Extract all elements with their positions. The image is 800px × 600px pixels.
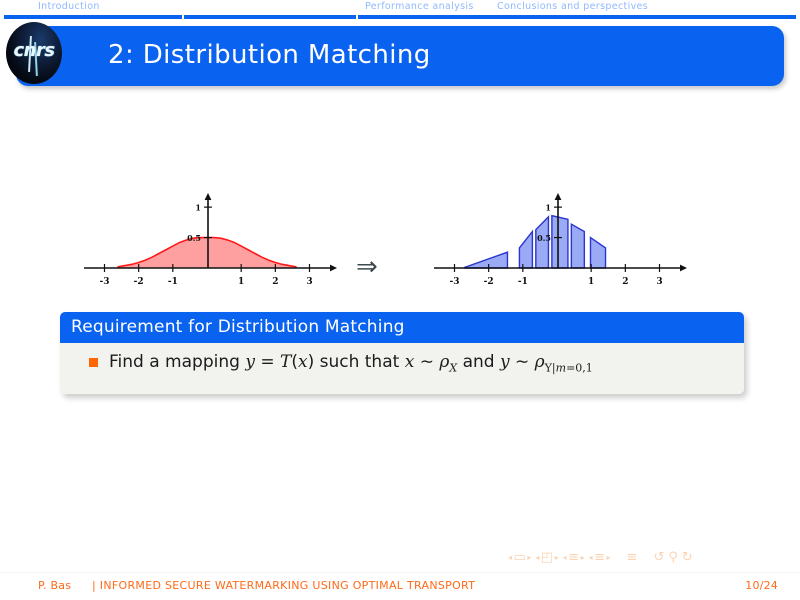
nav-back-icon[interactable]: ↺	[653, 550, 664, 565]
item-sub-Ybar: Y|	[545, 361, 556, 374]
y-tick-label: 1	[545, 203, 551, 213]
bar-segment	[571, 224, 584, 268]
item-sub-values: =0,1	[566, 361, 593, 374]
x-tick-label: 1	[588, 277, 594, 287]
item-rho-1: ρ	[439, 352, 449, 372]
footer-author: P. Bas	[38, 579, 71, 592]
nav-search-icon[interactable]: ⚲	[668, 550, 678, 565]
nav-prev-section-icon[interactable]: ◂	[589, 553, 593, 562]
bar-segment	[590, 238, 605, 268]
item-sub-m: m	[556, 361, 566, 374]
x-tick-label: 1	[238, 277, 244, 287]
nav-next-subsection-icon[interactable]: ▸	[581, 553, 585, 562]
item-sim-2: ∼	[510, 352, 535, 372]
bar-segment	[552, 216, 568, 268]
item-rho-2: ρ	[535, 352, 545, 372]
item-var-x2: x	[405, 352, 415, 372]
block-body: Find a mapping y = T(x) such that x ∼ ρX…	[60, 343, 744, 394]
nav-frame-group[interactable]: ◂ ◰ ▸	[535, 550, 558, 565]
x-tick-label: -1	[518, 277, 528, 287]
nav-forward-icon[interactable]: ↻	[682, 550, 693, 565]
nav-next-section-icon[interactable]: ▸	[607, 553, 611, 562]
nav-section-icon[interactable]: ≡	[594, 550, 605, 565]
block-title: Requirement for Distribution Matching	[60, 312, 744, 343]
item-var-x1: x	[298, 352, 308, 372]
nav-prev-slide-icon[interactable]: ◂	[508, 553, 512, 562]
implies-arrow-icon: ⇒	[356, 252, 378, 282]
y-tick-label: 1	[195, 203, 201, 213]
nav-section-group[interactable]: ◂ ≡ ▸	[589, 550, 611, 565]
item-func-T: T	[280, 352, 291, 372]
item-paren-open: (	[291, 352, 298, 372]
x-tick-label: -1	[168, 277, 178, 287]
footer-divider	[0, 572, 800, 573]
chart-right-quantized: -3-2-1123 0.51	[428, 190, 688, 290]
list-item: Find a mapping y = T(x) such that x ∼ ρX…	[70, 352, 734, 374]
page-title: 2: Distribution Matching	[108, 40, 431, 70]
bar-segment	[465, 252, 508, 268]
nav-subsection-icon[interactable]: ≡	[568, 550, 579, 565]
chart-right-svg: -3-2-1123 0.51	[428, 190, 688, 290]
cnrs-logo-text: cnrs	[11, 40, 57, 61]
bar-segment	[519, 231, 532, 268]
item-text-3: and	[457, 352, 500, 372]
y-axis-arrowhead	[555, 193, 562, 200]
frame-title-bar: 2: Distribution Matching	[16, 26, 784, 86]
y-axis-arrowhead	[205, 193, 212, 200]
footer: P. Bas | INFORMED SECURE WATERMARKING US…	[0, 576, 800, 600]
beamer-navigation-symbols: ◂ ▭ ▸ ◂ ◰ ▸ ◂ ≡ ▸ ◂ ≡ ▸ ≡ ↺ ⚲ ↻	[508, 548, 784, 566]
x-tick-label: -3	[100, 277, 110, 287]
quantized-segments	[465, 216, 606, 268]
nav-section-introduction[interactable]: Introduction	[38, 1, 100, 12]
item-equals: =	[255, 352, 280, 372]
nav-section-conclusions-and-perspectives[interactable]: Conclusions and perspectives	[497, 1, 648, 12]
x-tick-label: 2	[272, 277, 278, 287]
x-tick-label: 3	[656, 277, 662, 287]
nav-prev-subsection-icon[interactable]: ◂	[563, 553, 567, 562]
y-tick-label: 0.5	[187, 233, 201, 243]
nav-slide-icon[interactable]: ▭	[514, 550, 526, 565]
requirement-block: Requirement for Distribution Matching Fi…	[60, 312, 744, 394]
x-axis-arrowhead	[330, 265, 337, 272]
nav-subsection-group[interactable]: ◂ ≡ ▸	[563, 550, 585, 565]
item-var-y1: y	[245, 352, 255, 372]
x-tick-label: -2	[134, 277, 144, 287]
nav-slide-group[interactable]: ◂ ▭ ▸	[508, 550, 531, 565]
navigation-bar: Introduction Performance analysis Conclu…	[0, 0, 800, 20]
x-tick-label: 3	[306, 277, 312, 287]
item-text-2: such that	[314, 352, 405, 372]
x-axis-arrowhead	[680, 265, 687, 272]
list-item-text: Find a mapping y = T(x) such that x ∼ ρX…	[109, 352, 593, 374]
nav-next-frame-icon[interactable]: ▸	[555, 553, 559, 562]
nav-frame-icon[interactable]: ◰	[541, 550, 553, 565]
chart-left-gaussian: -3-2-1123 0.51	[78, 190, 338, 290]
y-tick-label: 0.5	[537, 233, 551, 243]
x-tick-label: -3	[450, 277, 460, 287]
nav-next-slide-icon[interactable]: ▸	[527, 553, 531, 562]
x-tick-label: 2	[622, 277, 628, 287]
bullet-square-icon	[89, 358, 98, 367]
navigation-rule	[4, 15, 796, 19]
x-tick-label: -2	[484, 277, 494, 287]
cnrs-logo: cnrs	[0, 20, 66, 86]
item-text-1: Find a mapping	[109, 352, 245, 372]
gaussian-area	[118, 238, 296, 268]
nav-document-icon[interactable]: ≡	[627, 550, 638, 565]
footer-title: | INFORMED SECURE WATERMARKING USING OPT…	[92, 579, 475, 592]
item-sim-1: ∼	[414, 352, 439, 372]
chart-left-svg: -3-2-1123 0.51	[78, 190, 338, 290]
footer-page-number: 10/24	[745, 579, 778, 592]
nav-section-performance-analysis[interactable]: Performance analysis	[365, 1, 474, 12]
item-var-y2: y	[500, 352, 510, 372]
nav-prev-frame-icon[interactable]: ◂	[535, 553, 539, 562]
